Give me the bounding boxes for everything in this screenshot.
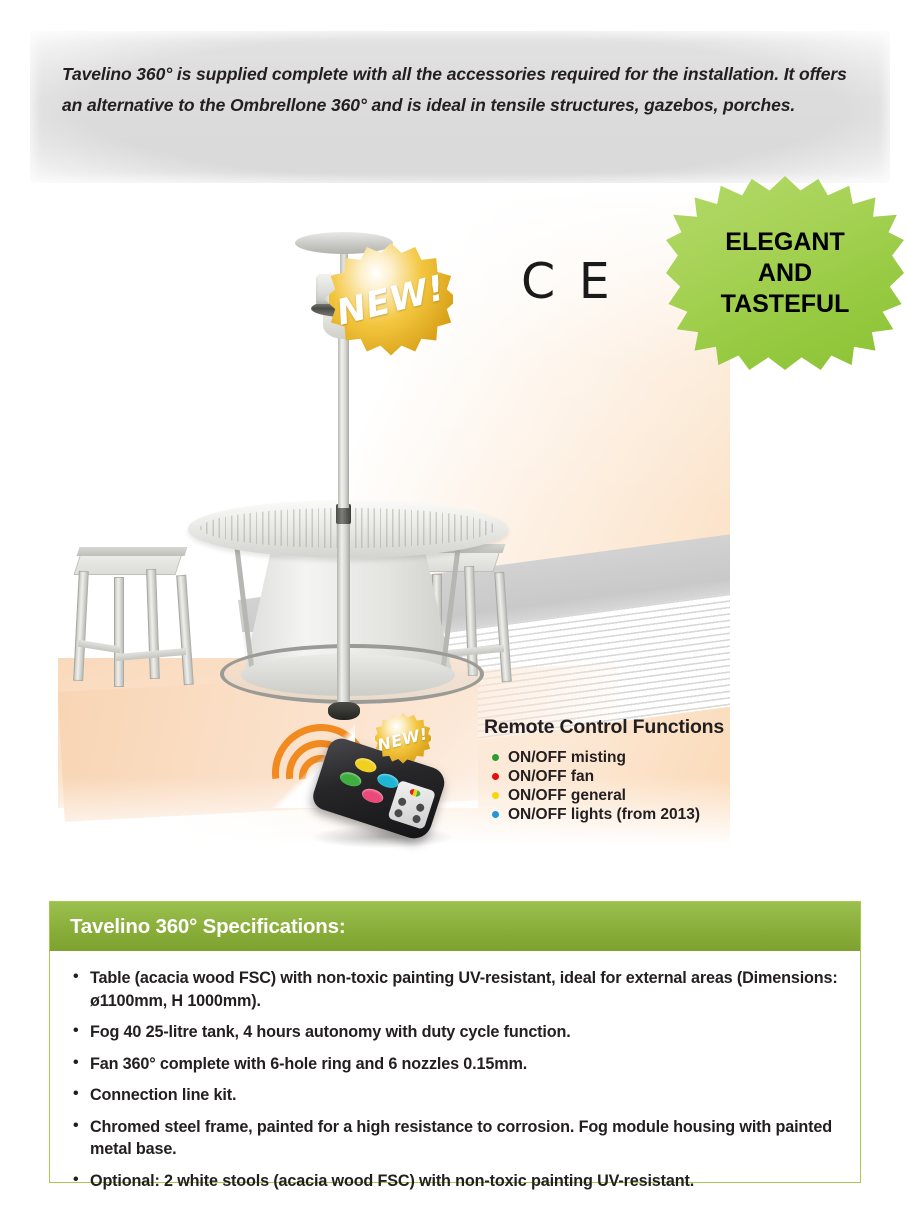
remote-keypad-dot — [415, 803, 425, 813]
list-item: ON/OFF misting — [492, 748, 724, 767]
remote-keypad-dot — [393, 808, 403, 818]
list-item: ON/OFF fan — [492, 767, 724, 786]
function-label: ON/OFF lights (from 2013) — [508, 806, 700, 823]
mast-lower-section — [337, 520, 350, 716]
mast-upper-section — [338, 332, 349, 508]
function-label: ON/OFF general — [508, 787, 626, 804]
remote-shadow — [312, 826, 452, 848]
list-item: Chromed steel frame, painted for a high … — [68, 1116, 842, 1161]
specifications-header: Tavelino 360° Specifications: — [50, 902, 860, 951]
remote-control-functions-title: Remote Control Functions — [484, 716, 724, 739]
bullet-dot-general — [492, 792, 499, 799]
starburst-line-3: TASTEFUL — [721, 289, 850, 320]
specifications-box: Tavelino 360° Specifications: Table (aca… — [49, 901, 861, 1183]
list-item: ON/OFF general — [492, 786, 724, 805]
list-item: Table (acacia wood FSC) with non-toxic p… — [68, 967, 842, 1012]
list-item: Fan 360° complete with 6-hole ring and 6… — [68, 1053, 842, 1076]
function-label: ON/OFF misting — [508, 749, 626, 766]
remote-keypad-dot — [397, 797, 407, 807]
mast-foot — [328, 702, 360, 720]
stool-left-image — [70, 547, 190, 697]
list-item: Fog 40 25-litre tank, 4 hours autonomy w… — [68, 1021, 842, 1044]
remote-control-functions-list: ON/OFF misting ON/OFF fan ON/OFF general… — [484, 748, 724, 824]
remote-button-yellow — [353, 756, 378, 775]
bullet-dot-lights — [492, 811, 499, 818]
remote-button-pink — [360, 786, 385, 805]
list-item: Optional: 2 white stools (acacia wood FS… — [68, 1170, 842, 1193]
intro-paragraph: Tavelino 360° is supplied complete with … — [62, 59, 852, 121]
new-badge-small-label: NEW! — [376, 724, 430, 755]
intro-banner: Tavelino 360° is supplied complete with … — [30, 31, 890, 183]
elegant-tasteful-starburst: ELEGANT AND TASTEFUL — [666, 176, 904, 370]
specifications-body: Table (acacia wood FSC) with non-toxic p… — [50, 951, 860, 1192]
list-item: Connection line kit. — [68, 1084, 842, 1107]
fan-top-disc — [295, 232, 393, 254]
list-item: ON/OFF lights (from 2013) — [492, 805, 724, 824]
specifications-list: Table (acacia wood FSC) with non-toxic p… — [68, 967, 842, 1192]
ce-mark-icon: C E — [521, 257, 614, 306]
remote-led-indicator — [409, 788, 422, 798]
function-label: ON/OFF fan — [508, 768, 594, 785]
starburst-line-1: ELEGANT — [725, 227, 844, 258]
remote-keypad-dot — [412, 814, 422, 824]
starburst-line-2: AND — [758, 258, 812, 289]
remote-button-green — [338, 770, 363, 789]
bullet-dot-misting — [492, 754, 499, 761]
specifications-title: Tavelino 360° Specifications: — [70, 915, 345, 939]
new-badge-large-label: NEW! — [333, 268, 449, 333]
remote-control-functions-block: Remote Control Functions ON/OFF misting … — [484, 716, 724, 824]
bullet-dot-fan — [492, 773, 499, 780]
